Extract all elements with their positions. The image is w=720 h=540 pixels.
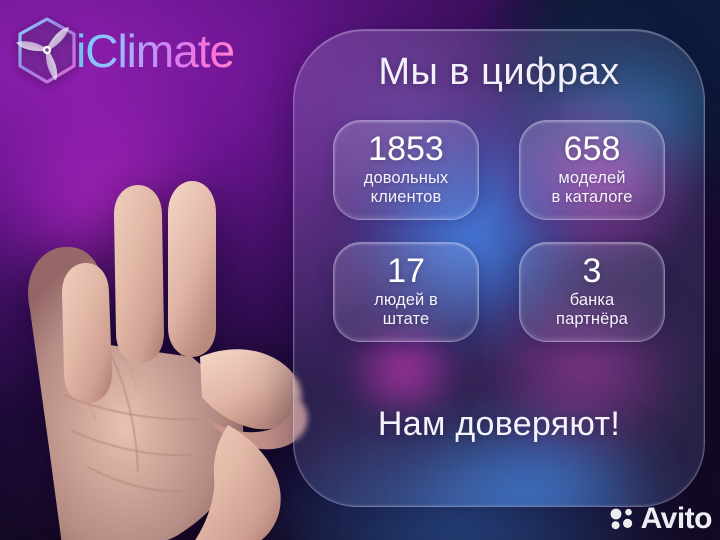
stat-number: 1853 (368, 133, 444, 166)
stat-label-line1: моделей (558, 169, 625, 187)
stat-label-line2: штате (383, 310, 429, 328)
stat-box-staff: 17 людей в штате (333, 242, 479, 342)
stat-label: людей в штате (374, 291, 438, 328)
stat-label-line1: людей в (374, 291, 438, 309)
stat-number: 3 (583, 255, 602, 288)
stat-label-line2: клиентов (371, 188, 442, 206)
stat-label-line2: в каталоге (551, 188, 632, 206)
stat-box-banks: 3 банка партнёра (519, 242, 665, 342)
stat-label: довольных клиентов (364, 169, 449, 206)
stat-box-models: 658 моделей в каталоге (519, 120, 665, 220)
hand-photo (0, 95, 322, 540)
stat-box-clients: 1853 довольных клиентов (333, 120, 479, 220)
stat-label-line1: банка (570, 291, 615, 309)
avito-watermark: Avito (610, 504, 712, 534)
hexagon-turbine-icon (14, 16, 80, 86)
card-footer-text: Нам доверяют! (378, 405, 620, 444)
stat-label: моделей в каталоге (551, 169, 632, 206)
stats-grid: 1853 довольных клиентов 658 моделей в ка… (333, 120, 665, 342)
stat-label-line1: довольных (364, 169, 449, 187)
card-title: Мы в цифрах (378, 52, 619, 94)
brand-logo: iClimate (14, 16, 238, 86)
avito-wordmark: Avito (641, 504, 712, 534)
poster-canvas: iClimate Мы в цифрах 1853 довольных клие… (0, 0, 720, 540)
stat-number: 658 (564, 133, 621, 166)
brand-name: iClimate (76, 28, 238, 74)
avito-dots-icon (610, 508, 636, 530)
stat-number: 17 (387, 255, 425, 288)
stat-label-line2: партнёра (556, 310, 628, 328)
stats-card: Мы в цифрах 1853 довольных клиентов 658 … (293, 29, 705, 507)
stat-label: банка партнёра (556, 291, 628, 328)
